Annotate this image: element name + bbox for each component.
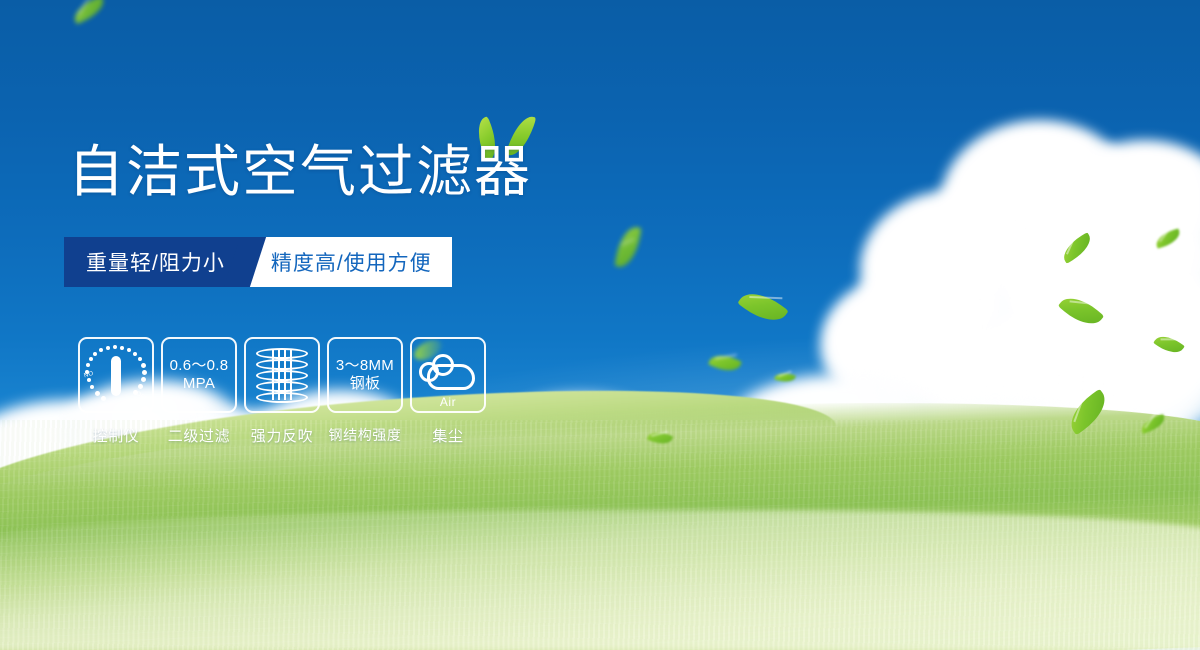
pressure-line-2: MPA <box>170 375 229 393</box>
pressure-line-1: 0.6～0.8 <box>170 357 229 375</box>
leaf-icon <box>708 350 742 377</box>
white-cumulus-cloud <box>820 120 1200 450</box>
feature-item-backblow[interactable]: 强力反吹 <box>244 337 320 446</box>
gauge-icon: NO OFF <box>85 344 147 406</box>
leaf-icon <box>70 0 108 24</box>
pressure-text-icon: 0.6～0.8 MPA <box>170 357 229 392</box>
feature-icon-box: 0.6～0.8 MPA <box>161 337 237 413</box>
feature-label: 强力反吹 <box>251 425 313 446</box>
steel-line-1: 3～8MM <box>336 357 394 375</box>
feature-item-dust-collection[interactable]: Air 集尘 <box>410 337 486 446</box>
subtitle-right-text: 精度高/使用方便 <box>271 247 432 277</box>
feature-item-controller[interactable]: NO OFF 控制仪 <box>78 337 154 446</box>
cloud-air-caption: Air <box>419 395 477 409</box>
feature-icon-box: Air <box>410 337 486 413</box>
leaf-icon <box>774 371 796 385</box>
feature-label: 钢结构强度 <box>329 425 402 445</box>
feature-item-secondary-filter[interactable]: 0.6～0.8 MPA 二级过滤 <box>161 337 237 446</box>
subtitle-badge-bar: 重量轻/阻力小 精度高/使用方便 <box>64 237 452 287</box>
feature-label: 控制仪 <box>93 425 140 446</box>
gauge-no-label: NO <box>83 371 94 379</box>
cloud-air-icon: Air <box>419 352 477 398</box>
subtitle-right-badge: 精度高/使用方便 <box>245 237 452 287</box>
gauge-off-label: OFF <box>134 391 148 403</box>
feature-icon-box: NO OFF <box>78 337 154 413</box>
leaf-icon <box>737 284 788 330</box>
filter-coil-icon <box>256 346 308 404</box>
gauge-needle-icon <box>111 356 121 396</box>
feature-list: NO OFF 控制仪 0.6～0.8 MPA 二级过滤 <box>78 337 486 446</box>
steel-plate-text-icon: 3～8MM 钢板 <box>336 357 394 392</box>
feature-label: 集尘 <box>432 425 463 446</box>
leaf-icon <box>1154 228 1183 248</box>
page-title: 自洁式空气过滤器 <box>68 143 532 202</box>
feature-icon-box <box>244 337 320 413</box>
hero-banner: 自洁式空气过滤器 重量轻/阻力小 精度高/使用方便 <box>0 0 1200 650</box>
leaf-icon <box>1058 289 1104 333</box>
feature-item-steel-strength[interactable]: 3～8MM 钢板 钢结构强度 <box>327 337 403 446</box>
steel-line-2: 钢板 <box>336 375 394 393</box>
grass-path <box>0 510 1200 650</box>
subtitle-left-badge: 重量轻/阻力小 <box>64 237 245 287</box>
subtitle-left-text: 重量轻/阻力小 <box>86 247 225 277</box>
feature-icon-box: 3～8MM 钢板 <box>327 337 403 413</box>
leaf-icon <box>615 225 642 270</box>
leaf-icon <box>1153 330 1185 358</box>
feature-label: 二级过滤 <box>168 425 230 446</box>
leaf-icon <box>1058 232 1095 264</box>
